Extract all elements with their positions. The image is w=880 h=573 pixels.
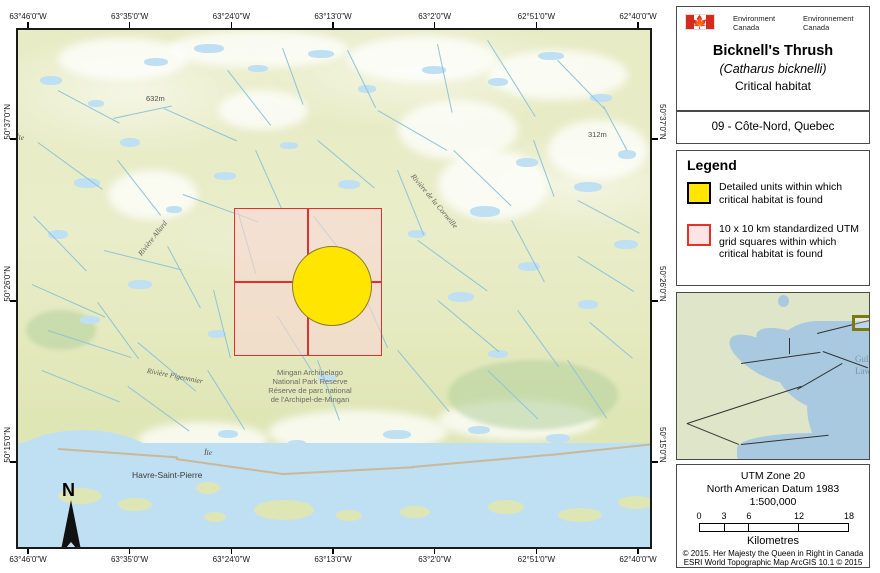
legend-label-habitat: Detailed units within which critical hab…	[719, 181, 861, 206]
lake	[578, 300, 598, 309]
map-info-panel: 🍁 Environment Canada Environnement Canad…	[668, 2, 878, 571]
legend-entry-habitat: Detailed units within which critical hab…	[687, 181, 861, 206]
species-scientific-name: (Catharus bicknelli)	[677, 62, 869, 76]
longitude-label: 63°35'0"W	[111, 12, 148, 21]
longitude-label: 63°35'0"W	[111, 555, 148, 564]
island	[254, 500, 314, 520]
latitude-label: 50°37'0"N	[3, 104, 12, 140]
title-block: 🍁 Environment Canada Environnement Canad…	[676, 6, 870, 144]
lake	[538, 52, 564, 60]
longitude-label: 63°24'0"W	[213, 12, 250, 21]
island-label-fragment-2: Île	[204, 448, 212, 457]
divider	[677, 110, 869, 112]
lake	[338, 180, 360, 189]
datum-label: North American Datum 1983	[677, 483, 869, 495]
vegetation-patch	[448, 360, 618, 430]
map-page: 63°46'0"W63°35'0"W63°24'0"W63°13'0"W63°2…	[0, 0, 880, 573]
legend-label-utm: 10 x 10 km standardized UTM grid squares…	[719, 223, 861, 261]
longitude-label: 63°13'0"W	[314, 555, 351, 564]
longitude-label: 63°2'0"W	[418, 12, 451, 21]
lake	[308, 50, 334, 58]
longitude-label: 62°40'0"W	[619, 12, 656, 21]
longitude-label: 62°51'0"W	[518, 12, 555, 21]
lake	[516, 158, 538, 167]
critical-habitat-unit[interactable]	[292, 246, 372, 326]
scale-tick-3: 3	[722, 511, 727, 521]
inset-border-line	[687, 386, 801, 424]
main-map-panel: 63°46'0"W63°35'0"W63°24'0"W63°13'0"W63°2…	[2, 2, 666, 571]
credit-line-1: © 2015. Her Majesty the Queen in Right i…	[677, 549, 869, 558]
lake	[618, 150, 636, 159]
island	[400, 506, 430, 518]
lake	[166, 206, 182, 213]
scale-bar: 0 3 6 12 18	[699, 511, 849, 532]
legend-swatch-habitat	[687, 182, 711, 204]
latitude-label: 50°15'0"N	[3, 427, 12, 463]
scale-bar-ticks: 0 3 6 12 18	[699, 511, 849, 523]
lake	[488, 78, 508, 86]
elevation-label-632: 632m	[146, 94, 165, 103]
longitude-label: 63°13'0"W	[314, 12, 351, 21]
canada-flag-icon: 🍁	[685, 14, 715, 30]
legend-entry-utm: 10 x 10 km standardized UTM grid squares…	[687, 223, 861, 261]
terrain-highland	[348, 36, 498, 82]
latitude-label: 50°37'0"N	[658, 104, 667, 140]
park-reserve-label: Mingan Archipelago National Park Reserve…	[230, 368, 390, 404]
inset-border-line	[789, 338, 790, 354]
latitude-label: 50°26'0"N	[3, 266, 12, 302]
legend-swatch-utm	[687, 224, 711, 246]
lake	[248, 65, 268, 72]
scale-bar-graphic	[699, 523, 849, 532]
island-label-fragment: Île	[16, 133, 24, 142]
longitude-label: 63°2'0"W	[418, 555, 451, 564]
department-name-fr: Environnement Canada	[803, 14, 863, 32]
inset-locator-box[interactable]	[852, 315, 870, 331]
credit-line-2: ESRI World Topographic Map ArcGIS 10.1 ©…	[677, 558, 869, 567]
terrain-highland	[218, 90, 308, 130]
lake	[470, 206, 500, 217]
park-label-line2: National Park Reserve	[230, 377, 390, 386]
lake	[120, 138, 140, 147]
scale-tick-12: 12	[794, 511, 804, 521]
island	[558, 508, 602, 522]
inset-border-line	[687, 423, 739, 445]
park-label-line3: Réserve de parc national	[230, 386, 390, 395]
lake	[574, 182, 602, 192]
longitude-label: 62°40'0"W	[619, 555, 656, 564]
scale-tick-6: 6	[746, 511, 751, 521]
lake	[546, 434, 570, 443]
lake	[40, 76, 62, 85]
legend-block: Legend Detailed units within which criti…	[676, 150, 870, 286]
department-name-en: Environment Canada	[733, 14, 791, 32]
lake	[88, 100, 104, 107]
north-arrow-icon: N	[54, 480, 88, 549]
latitude-label: 50°15'0"N	[658, 427, 667, 463]
inset-locator-map[interactable]: Gulf of St. Lawrence	[676, 292, 870, 460]
north-arrow-glyph	[54, 500, 88, 549]
park-label-line1: Mingan Archipelago	[230, 368, 390, 377]
map-subtitle: Critical habitat	[677, 79, 869, 93]
island	[204, 512, 226, 522]
graticule-tick	[651, 300, 658, 302]
island	[618, 496, 652, 509]
longitude-label: 63°24'0"W	[213, 555, 250, 564]
longitude-label: 62°51'0"W	[518, 555, 555, 564]
legend-title: Legend	[687, 157, 737, 173]
utm-zone-label: UTM Zone 20	[677, 470, 869, 482]
inset-lake	[778, 295, 789, 307]
lake	[80, 316, 100, 324]
scale-units-label: Kilometres	[677, 535, 869, 547]
inset-gulf-label: Gulf of St. Lawrence	[855, 353, 870, 377]
latitude-label: 50°26'0"N	[658, 266, 667, 302]
scale-ratio-label: 1:500,000	[677, 496, 869, 508]
inset-basemap: Gulf of St. Lawrence	[677, 293, 869, 459]
park-label-line4: de l'Archipel-de-Mingan	[230, 395, 390, 404]
lake	[448, 292, 474, 302]
lake	[128, 280, 152, 289]
longitude-label: 63°46'0"W	[9, 555, 46, 564]
town-label-havre-saint-pierre: Havre-Saint-Pierre	[132, 470, 202, 480]
elevation-label-312: 312m	[588, 130, 607, 139]
region-label: 09 - Côte-Nord, Quebec	[677, 121, 869, 133]
island	[118, 498, 152, 511]
longitude-label: 63°46'0"W	[9, 12, 46, 21]
graticule-tick	[651, 138, 658, 140]
scale-block: UTM Zone 20 North American Datum 1983 1:…	[676, 464, 870, 568]
terrain-highland	[58, 38, 188, 80]
scale-tick-0: 0	[696, 511, 701, 521]
lake	[214, 172, 236, 180]
island	[488, 500, 524, 514]
island	[336, 510, 362, 521]
lake	[383, 430, 411, 439]
agency-header: 🍁 Environment Canada Environnement Canad…	[685, 14, 865, 32]
lake	[144, 58, 168, 66]
lake	[468, 426, 490, 434]
map-canvas[interactable]: 632m 312m Rivière Allard Rivière Pigeonn…	[16, 28, 652, 549]
north-arrow-label: N	[62, 480, 75, 501]
lake	[194, 44, 224, 53]
scale-tick-18: 18	[844, 511, 854, 521]
graticule-tick	[651, 461, 658, 463]
species-common-name: Bicknell's Thrush	[677, 43, 869, 59]
lake	[614, 240, 638, 249]
lake	[280, 142, 298, 149]
bay	[218, 470, 438, 530]
island	[196, 482, 220, 494]
lake	[218, 430, 238, 438]
